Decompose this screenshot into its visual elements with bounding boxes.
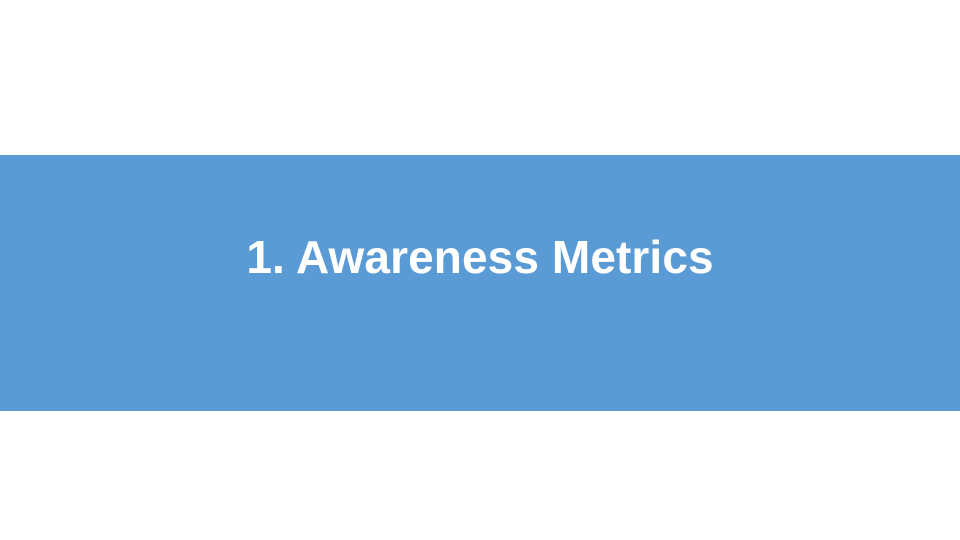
slide-bottom-margin: [0, 411, 960, 540]
section-header-band: 1. Awareness Metrics: [0, 155, 960, 411]
section-title: 1. Awareness Metrics: [0, 155, 960, 280]
section-divider-slide: 1. Awareness Metrics: [0, 0, 960, 540]
slide-top-margin: [0, 0, 960, 155]
